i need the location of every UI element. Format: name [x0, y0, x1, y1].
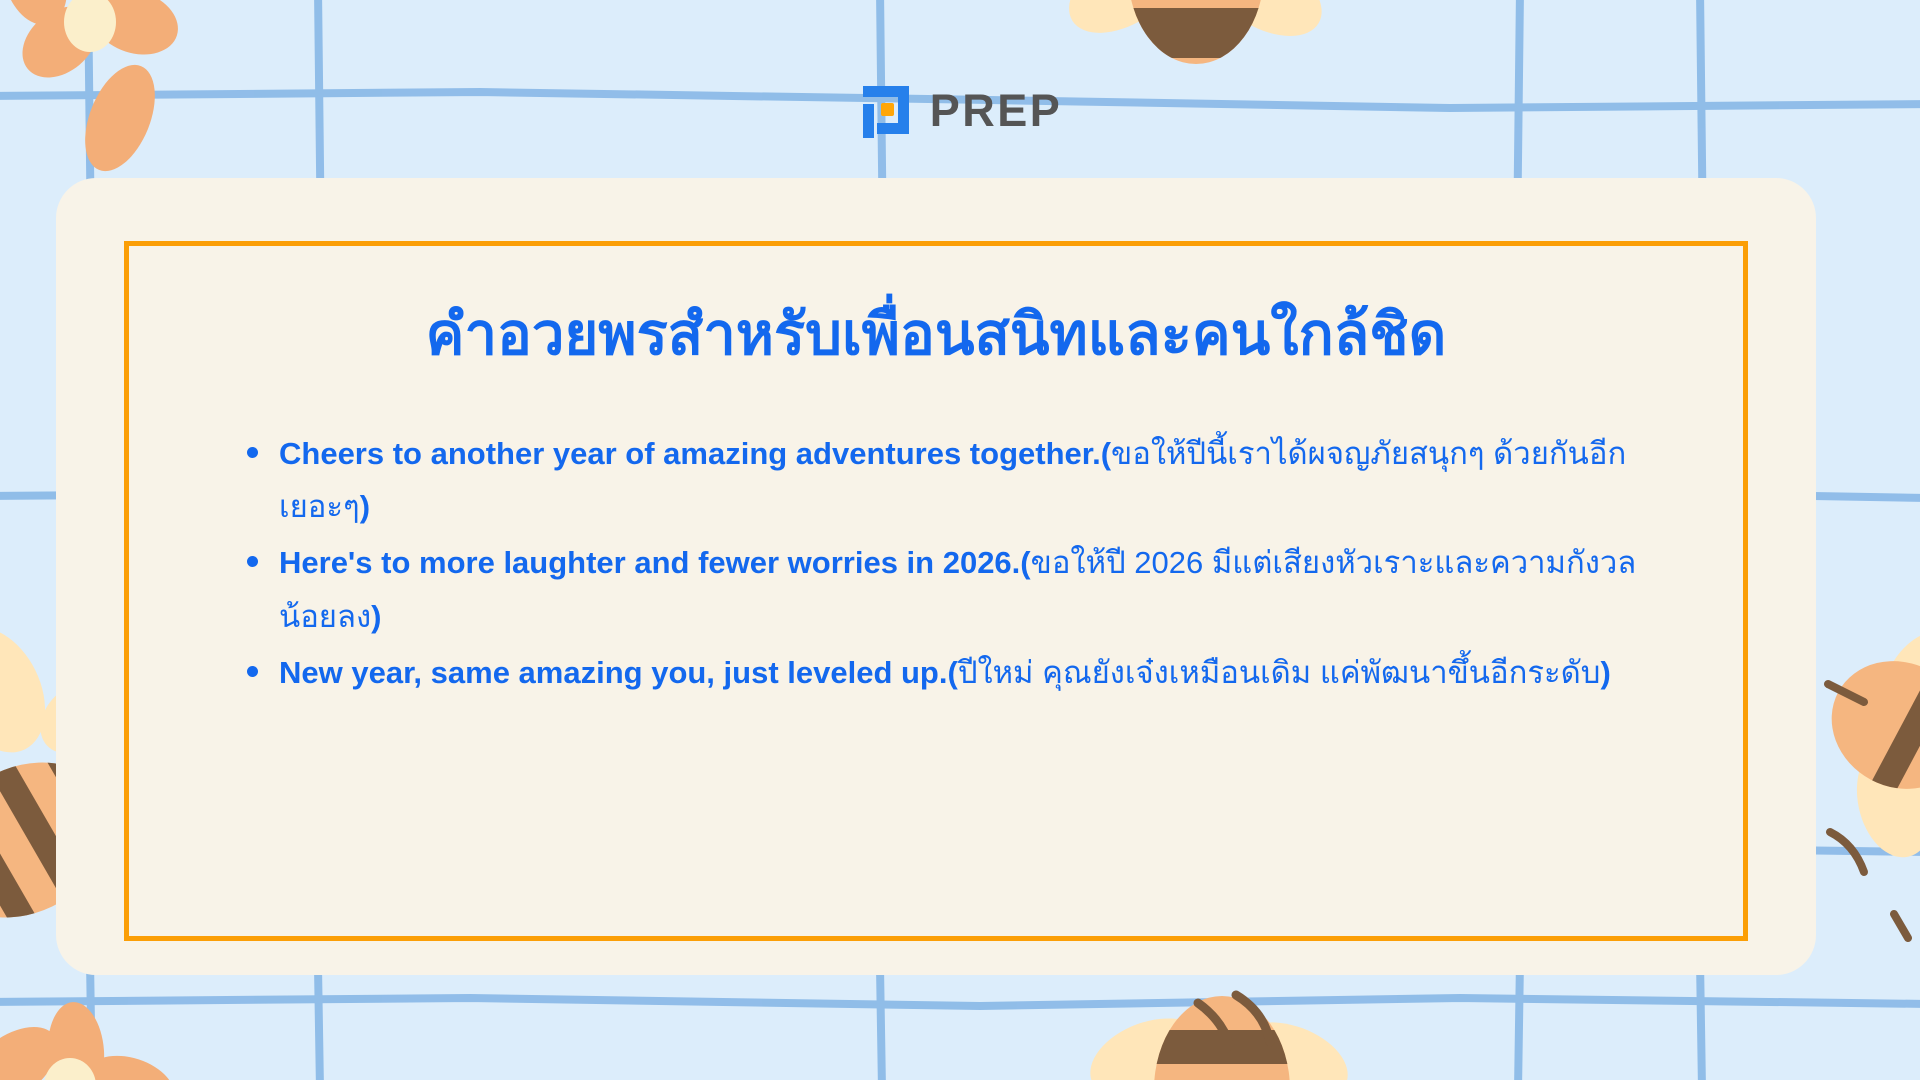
content-card: คำอวยพรสำหรับเพื่อนสนิทและคนใกล้ชิด Chee…: [56, 178, 1816, 975]
open-paren: (: [1020, 545, 1030, 580]
close-paren: ): [360, 489, 370, 524]
greeting-english: Cheers to another year of amazing advent…: [279, 436, 1101, 471]
close-paren: ): [1601, 655, 1611, 690]
open-paren: (: [947, 655, 957, 690]
list-item: New year, same amazing you, just leveled…: [245, 646, 1657, 699]
list-item: Cheers to another year of amazing advent…: [245, 427, 1657, 534]
prep-logo-mark-icon: [858, 82, 914, 138]
slide-canvas: PREP คำอวยพรสำหรับเพื่อนสนิทและคนใกล้ชิด…: [0, 0, 1920, 1080]
list-item: Here's to more laughter and fewer worrie…: [245, 536, 1657, 643]
greeting-english: Here's to more laughter and fewer worrie…: [279, 545, 1020, 580]
open-paren: (: [1101, 436, 1111, 471]
page-title: คำอวยพรสำหรับเพื่อนสนิทและคนใกล้ชิด: [129, 246, 1743, 369]
greeting-english: New year, same amazing you, just leveled…: [279, 655, 947, 690]
greeting-thai: ปีใหม่ คุณยังเจ๋งเหมือนเดิม แค่พัฒนาขึ้น…: [958, 655, 1601, 690]
close-paren: ): [371, 599, 381, 634]
content-card-border: คำอวยพรสำหรับเพื่อนสนิทและคนใกล้ชิด Chee…: [124, 241, 1748, 941]
brand-wordmark: PREP: [930, 88, 1063, 133]
brand-logo: PREP: [0, 78, 1920, 142]
greeting-list: Cheers to another year of amazing advent…: [129, 369, 1743, 700]
